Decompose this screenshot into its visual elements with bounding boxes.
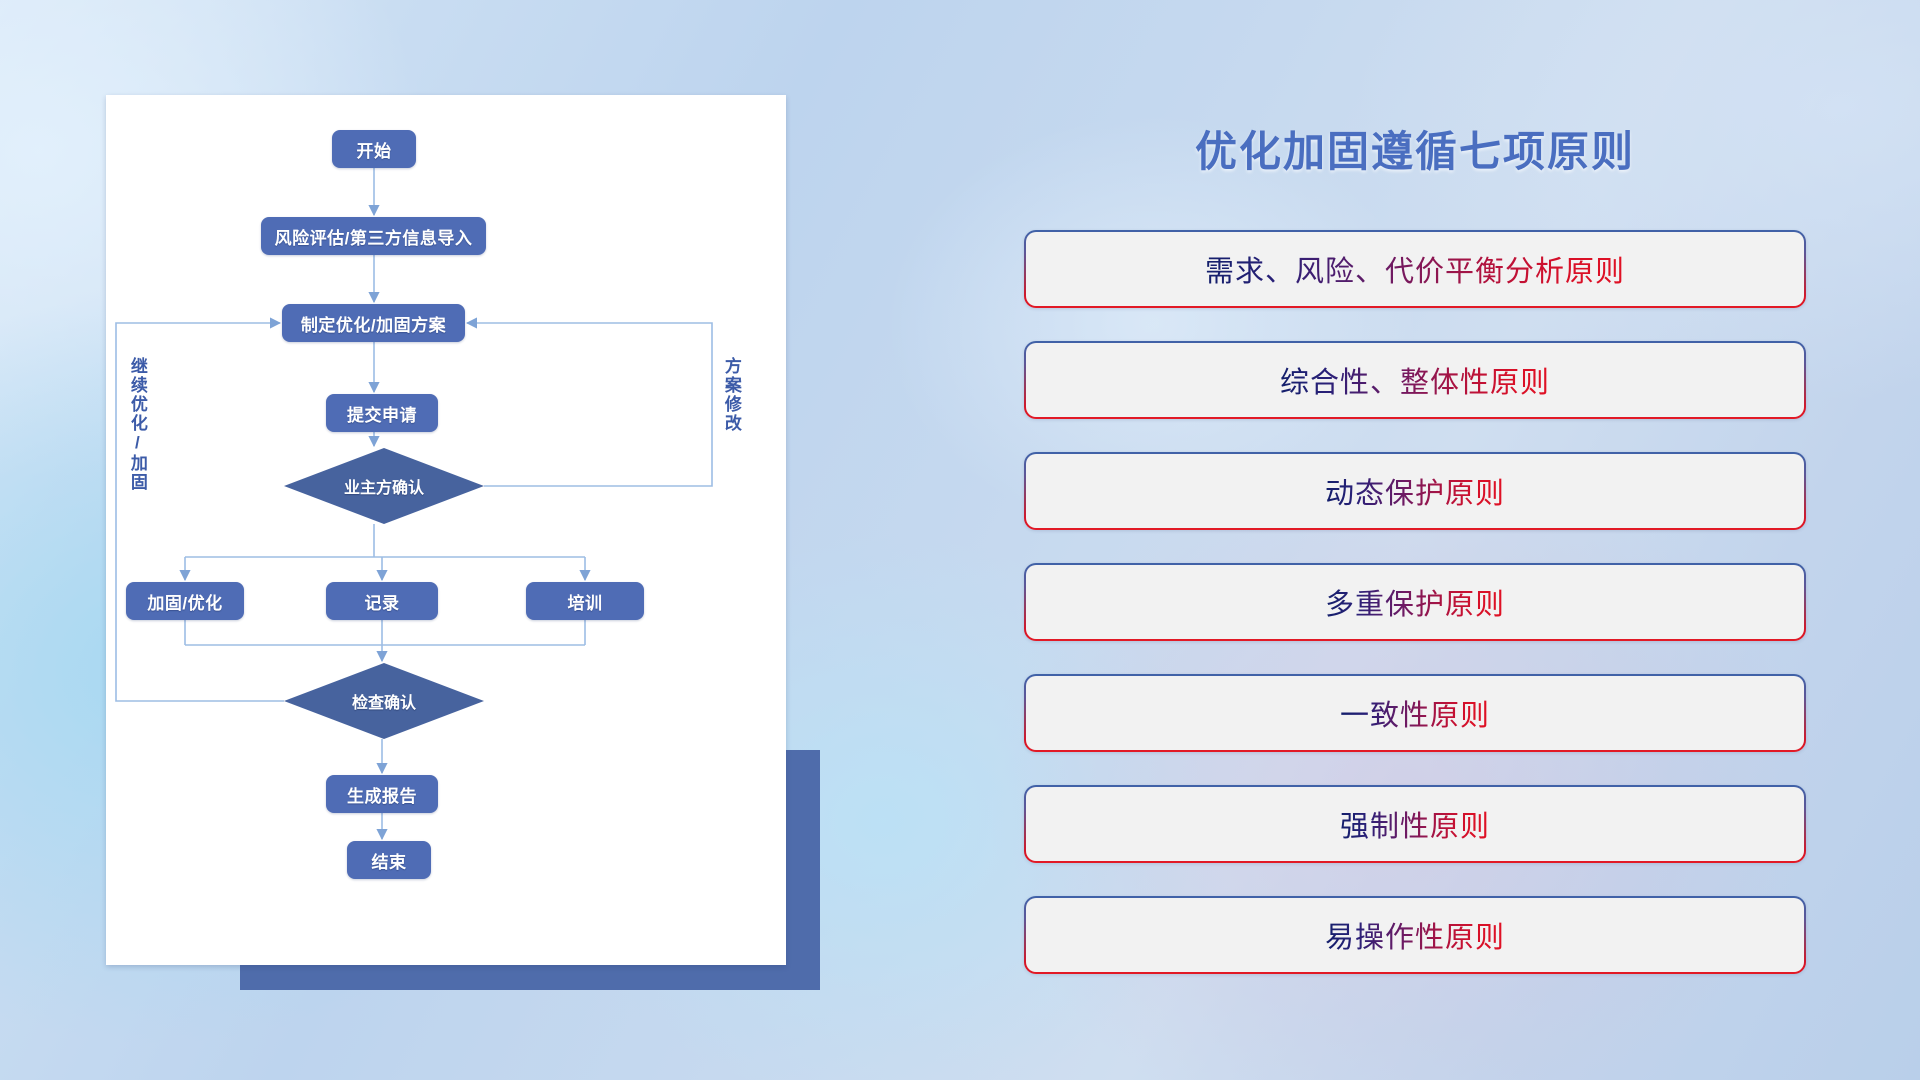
- principle-card[interactable]: 易操作性原则: [1024, 896, 1806, 974]
- flow-node-label: 风险评估/第三方信息导入: [275, 224, 473, 249]
- flow-node-record[interactable]: 记录: [326, 582, 438, 620]
- flowchart-card: 开始风险评估/第三方信息导入制定优化/加固方案提交申请业主方确认加固/优化记录培…: [106, 95, 786, 965]
- flow-node-risk[interactable]: 风险评估/第三方信息导入: [261, 217, 486, 255]
- flow-node-label: 开始: [357, 137, 392, 162]
- flow-edge-label-plan-revise: 方案修改: [722, 357, 740, 433]
- principle-card-label: 强制性原则: [1340, 803, 1490, 845]
- principle-card-body: 多重保护原则: [1026, 565, 1804, 639]
- flow-node-label: 业主方确认: [344, 474, 424, 498]
- principle-card-label: 需求、风险、代价平衡分析原则: [1205, 248, 1625, 290]
- principle-card-body: 动态保护原则: [1026, 454, 1804, 528]
- principle-card[interactable]: 动态保护原则: [1024, 452, 1806, 530]
- principle-card-body: 综合性、整体性原则: [1026, 343, 1804, 417]
- flow-node-label: 培训: [568, 589, 603, 614]
- flow-node-label: 提交申请: [347, 401, 417, 426]
- slide-canvas: 开始风险评估/第三方信息导入制定优化/加固方案提交申请业主方确认加固/优化记录培…: [0, 0, 1920, 1080]
- principle-card-label: 综合性、整体性原则: [1280, 359, 1550, 401]
- flow-edge-label-continue-loop: 继续优化/加固: [128, 357, 146, 492]
- flow-node-reinforce[interactable]: 加固/优化: [126, 582, 244, 620]
- principle-card-body: 强制性原则: [1026, 787, 1804, 861]
- principle-card[interactable]: 强制性原则: [1024, 785, 1806, 863]
- principle-card[interactable]: 需求、风险、代价平衡分析原则: [1024, 230, 1806, 308]
- flow-node-label: 检查确认: [352, 689, 416, 713]
- flow-node-plan[interactable]: 制定优化/加固方案: [282, 304, 465, 342]
- flow-node-label: 结束: [372, 848, 407, 873]
- flow-node-start[interactable]: 开始: [332, 130, 416, 168]
- flow-node-submit[interactable]: 提交申请: [326, 394, 438, 432]
- flow-node-report[interactable]: 生成报告: [326, 775, 438, 813]
- principle-card[interactable]: 多重保护原则: [1024, 563, 1806, 641]
- principle-card[interactable]: 综合性、整体性原则: [1024, 341, 1806, 419]
- flow-node-end[interactable]: 结束: [347, 841, 431, 879]
- principles-list: 需求、风险、代价平衡分析原则综合性、整体性原则动态保护原则多重保护原则一致性原则…: [1024, 230, 1806, 1007]
- flow-node-label: 生成报告: [347, 782, 417, 807]
- principle-card-label: 易操作性原则: [1325, 914, 1505, 956]
- flow-node-label: 加固/优化: [147, 589, 222, 614]
- page-title: 优化加固遵循七项原则: [1020, 118, 1810, 179]
- principle-card-label: 动态保护原则: [1325, 470, 1505, 512]
- principle-card-label: 一致性原则: [1340, 692, 1490, 734]
- principle-card-body: 易操作性原则: [1026, 898, 1804, 972]
- flow-node-label: 制定优化/加固方案: [301, 311, 446, 336]
- principle-card-body: 需求、风险、代价平衡分析原则: [1026, 232, 1804, 306]
- principle-card-body: 一致性原则: [1026, 676, 1804, 750]
- flow-node-train[interactable]: 培训: [526, 582, 644, 620]
- principle-card[interactable]: 一致性原则: [1024, 674, 1806, 752]
- principle-card-label: 多重保护原则: [1325, 581, 1505, 623]
- flow-node-label: 记录: [365, 589, 400, 614]
- principles-panel: 优化加固遵循七项原则 需求、风险、代价平衡分析原则综合性、整体性原则动态保护原则…: [1020, 96, 1810, 1026]
